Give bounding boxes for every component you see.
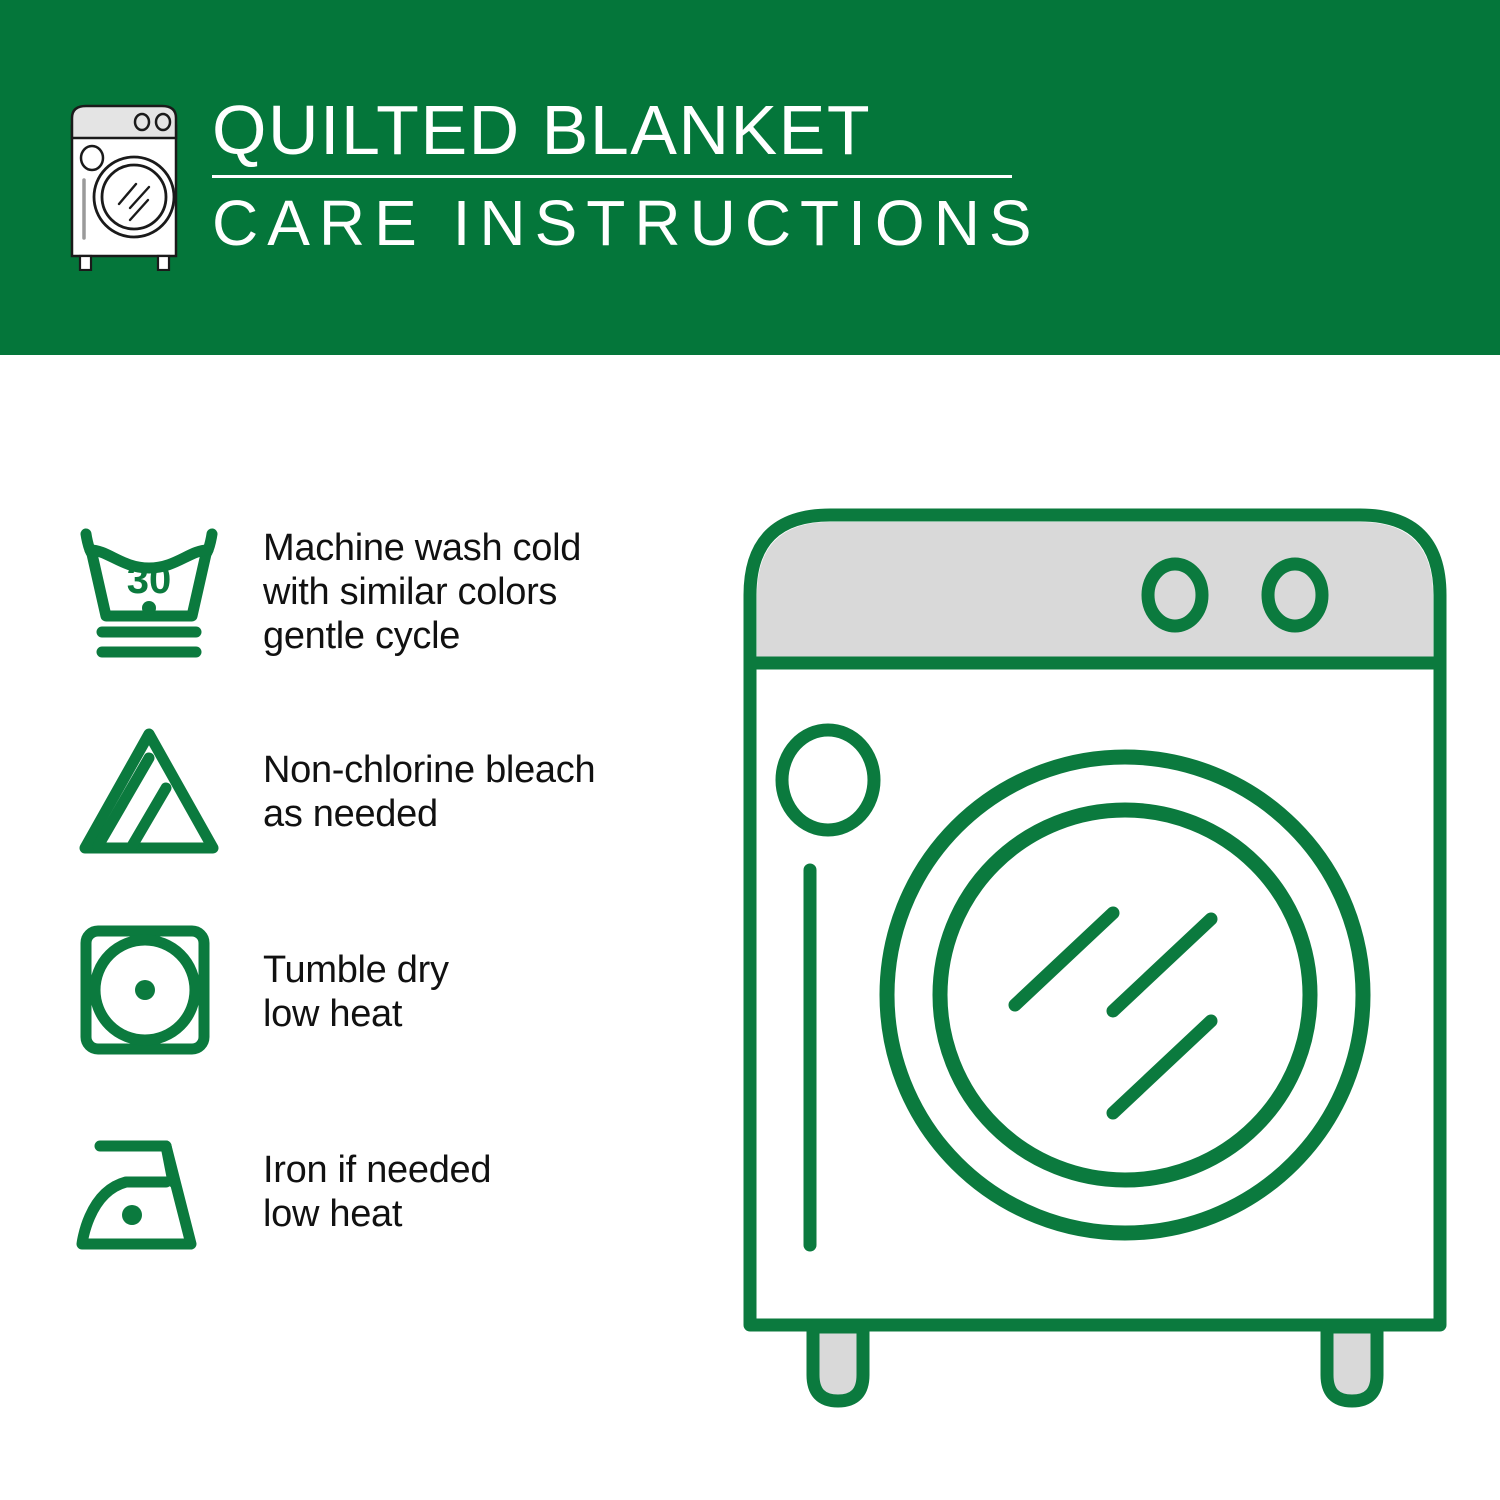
iron-low-heat-icon xyxy=(70,1117,235,1267)
care-label-iron: Iron if needed low heat xyxy=(263,1148,491,1236)
title-divider xyxy=(212,175,1012,178)
care-row-bleach: Non-chlorine bleach as needed xyxy=(0,692,730,892)
header-banner: QUILTED BLANKET CARE INSTRUCTIONS xyxy=(0,0,1500,355)
front-load-washing-machine-illustration xyxy=(735,495,1455,1415)
care-label-bleach: Non-chlorine bleach as needed xyxy=(263,748,595,836)
care-instruction-list: 30 Machine wash cold with similar colors… xyxy=(0,492,730,1292)
care-label-machine-wash: Machine wash cold with similar colors ge… xyxy=(263,526,581,658)
header-content: QUILTED BLANKET CARE INSTRUCTIONS xyxy=(62,92,1041,271)
header-title-block: QUILTED BLANKET CARE INSTRUCTIONS xyxy=(212,92,1041,259)
washer-leg-right xyxy=(1327,1327,1377,1401)
washer-leg-left xyxy=(813,1327,863,1401)
care-row-iron: Iron if needed low heat xyxy=(0,1092,730,1292)
care-row-tumble-dry: Tumble dry low heat xyxy=(0,892,730,1092)
machine-wash-30-icon: 30 xyxy=(70,517,235,667)
care-label-tumble-dry: Tumble dry low heat xyxy=(263,948,449,1036)
page-title: QUILTED BLANKET xyxy=(212,92,1041,168)
washing-machine-icon xyxy=(62,96,190,271)
wash-temperature-value: 30 xyxy=(127,558,172,602)
care-row-machine-wash: 30 Machine wash cold with similar colors… xyxy=(0,492,730,692)
tumble-dry-low-icon xyxy=(70,917,235,1067)
non-chlorine-bleach-icon xyxy=(70,717,235,867)
page-subtitle: CARE INSTRUCTIONS xyxy=(212,187,1041,259)
washer-control-panel xyxy=(757,522,1433,663)
